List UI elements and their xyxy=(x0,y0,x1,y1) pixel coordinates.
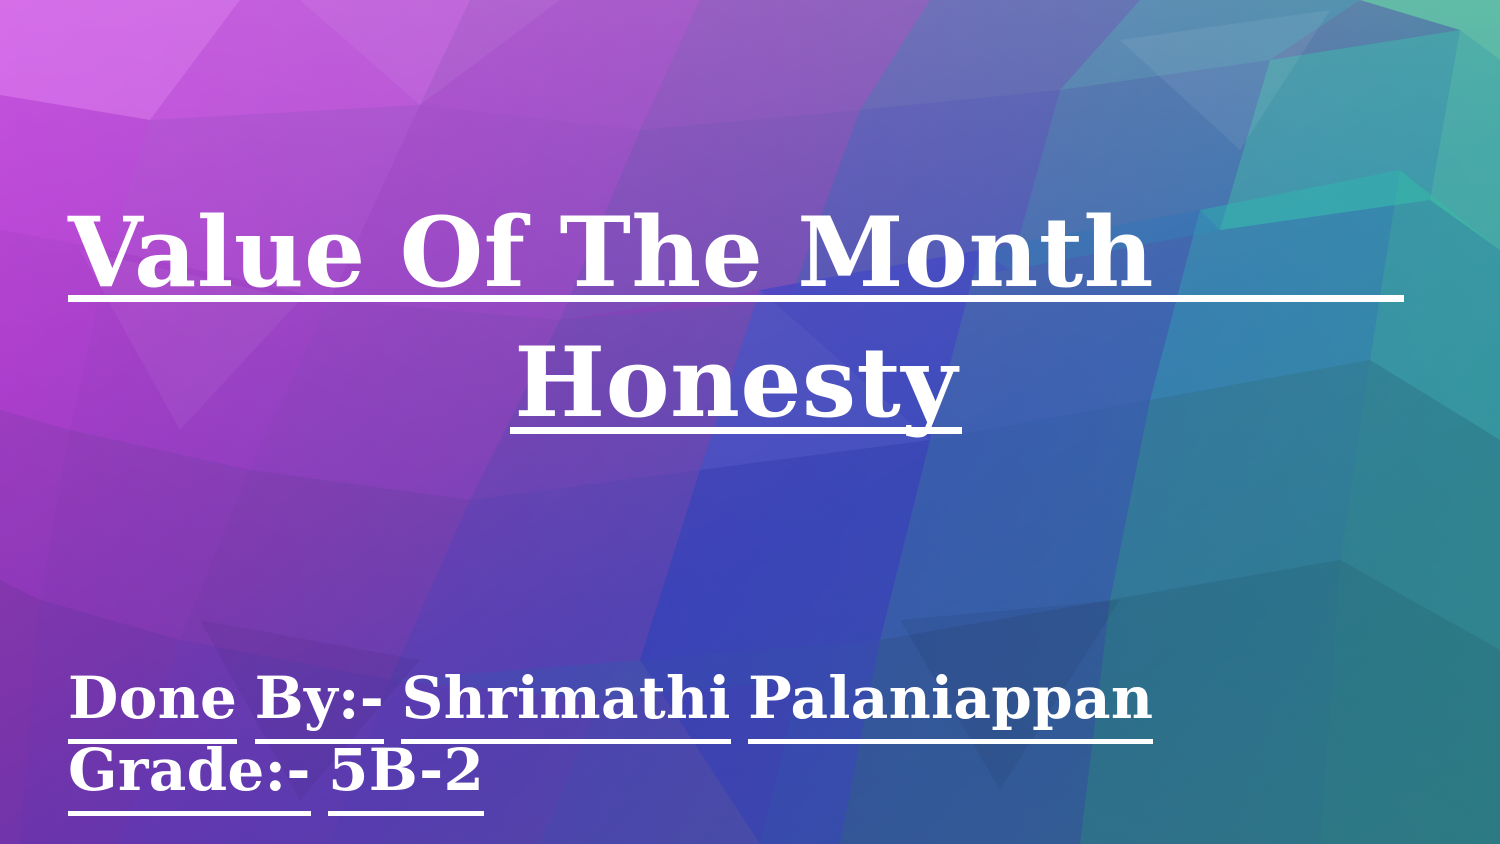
subtitle-word-underline xyxy=(748,739,1153,744)
subtitle-word: Done xyxy=(68,662,237,734)
title-line-1-wrapper: Value Of The Month xyxy=(68,188,1404,318)
subtitle-word: Shrimathi xyxy=(401,662,730,734)
subtitle-word-text: Shrimathi xyxy=(401,664,730,732)
subtitle-word-text: Palaniappan xyxy=(748,664,1153,732)
title-text-box[interactable]: Value Of The Month Honesty xyxy=(68,188,1404,448)
subtitle-word: Palaniappan xyxy=(748,662,1153,734)
subtitle-text-box[interactable]: DoneBy:-ShrimathiPalaniappan Grade:-5B-2 xyxy=(68,662,1408,806)
subtitle-line-2: Grade:-5B-2 xyxy=(68,734,1408,806)
subtitle-word: 5B-2 xyxy=(328,734,484,806)
subtitle-word: By:- xyxy=(255,662,384,734)
subtitle-word-text: By:- xyxy=(255,664,384,732)
title-line-2: Honesty xyxy=(510,318,961,448)
title-slide: Value Of The Month Honesty DoneBy:-Shrim… xyxy=(0,0,1500,844)
title-line-2-underline xyxy=(510,427,961,434)
title-line-2-wrapper: Honesty xyxy=(68,318,1404,448)
subtitle-word-text: Done xyxy=(68,664,237,732)
subtitle-word: Grade:- xyxy=(68,734,311,806)
title-line-2-text: Honesty xyxy=(514,326,957,439)
subtitle-word-underline xyxy=(68,811,311,816)
subtitle-word-text: 5B-2 xyxy=(328,736,484,804)
subtitle-word-text: Grade:- xyxy=(68,736,311,804)
title-line-1-underline xyxy=(68,295,1404,302)
subtitle-line-1: DoneBy:-ShrimathiPalaniappan xyxy=(68,662,1408,734)
subtitle-word-underline xyxy=(328,811,484,816)
slide-content: Value Of The Month Honesty DoneBy:-Shrim… xyxy=(0,0,1500,844)
